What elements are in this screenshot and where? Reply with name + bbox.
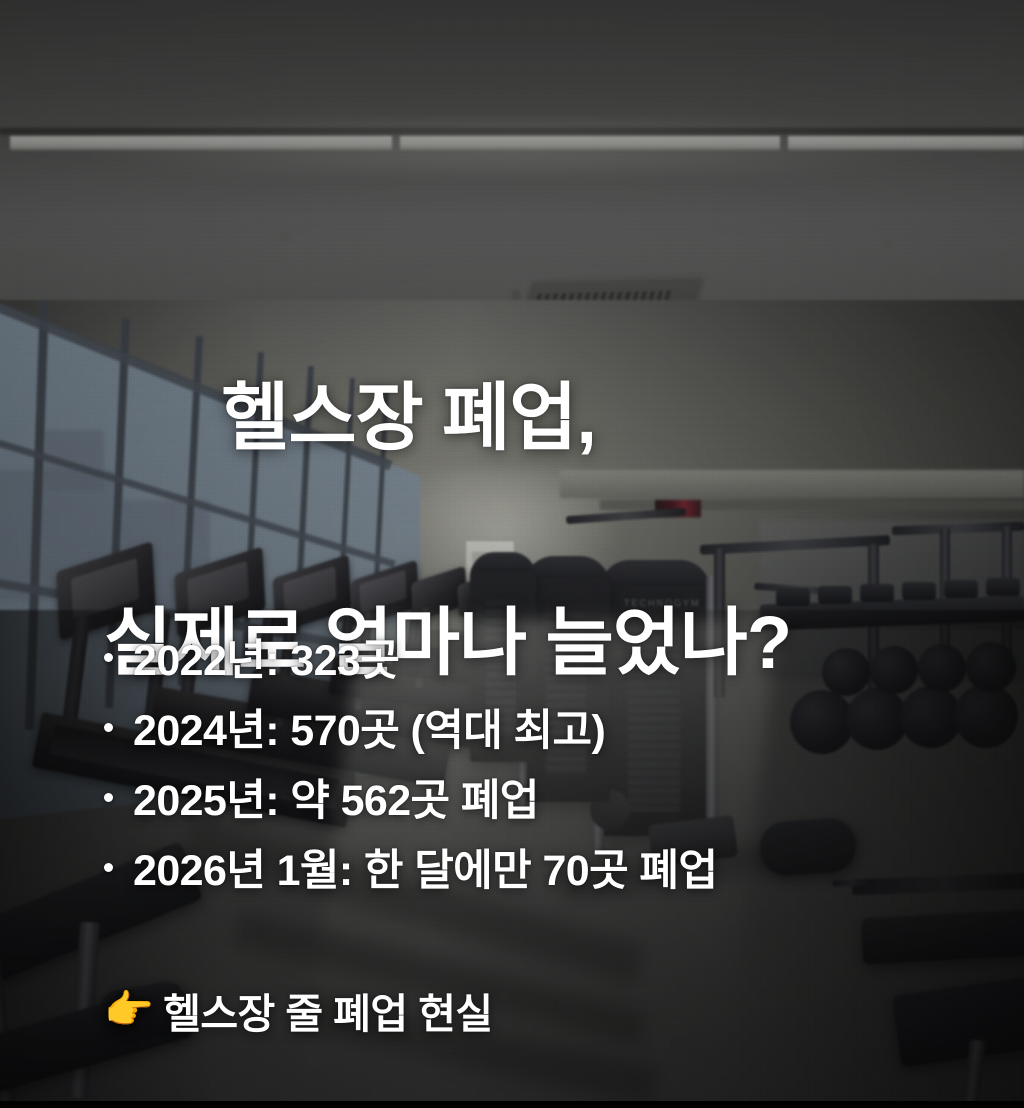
card-news-image: TECHNOGYM — [0, 0, 1024, 1108]
list-item-label: 2026년 1월: 한 달에만 70곳 폐업 — [133, 836, 717, 898]
list-item: 2026년 1월: 한 달에만 70곳 폐업 — [104, 832, 717, 902]
list-item-label: 2025년: 약 562곳 폐업 — [133, 766, 539, 828]
list-item-label: 2022년: 323곳 — [133, 626, 399, 688]
bullet-dot-icon — [104, 723, 113, 732]
caption-label: 헬스장 줄 폐업 현실 — [163, 980, 492, 1040]
list-item: 2024년: 570곳 (역대 최고) — [104, 692, 717, 762]
list-item-label: 2024년: 570곳 (역대 최고) — [133, 696, 605, 758]
bottom-letterbox-bar — [0, 1101, 1024, 1108]
bullet-dot-icon — [104, 793, 113, 802]
pointing-right-emoji-icon: 👉 — [104, 990, 153, 1030]
bullet-dot-icon — [104, 863, 113, 872]
stats-list: 2022년: 323곳 2024년: 570곳 (역대 최고) 2025년: 약… — [104, 622, 717, 902]
headline-line-1: 헬스장 폐업, — [221, 376, 596, 459]
text-overlay: 헬스장 폐업, 실제로 얼마나 늘었나? 2022년: 323곳 2024년: … — [0, 0, 1024, 1108]
list-item: 2025년: 약 562곳 폐업 — [104, 762, 717, 832]
bullet-dot-icon — [104, 653, 113, 662]
list-item: 2022년: 323곳 — [104, 622, 717, 692]
caption: 👉 헬스장 줄 폐업 현실 — [104, 980, 493, 1040]
